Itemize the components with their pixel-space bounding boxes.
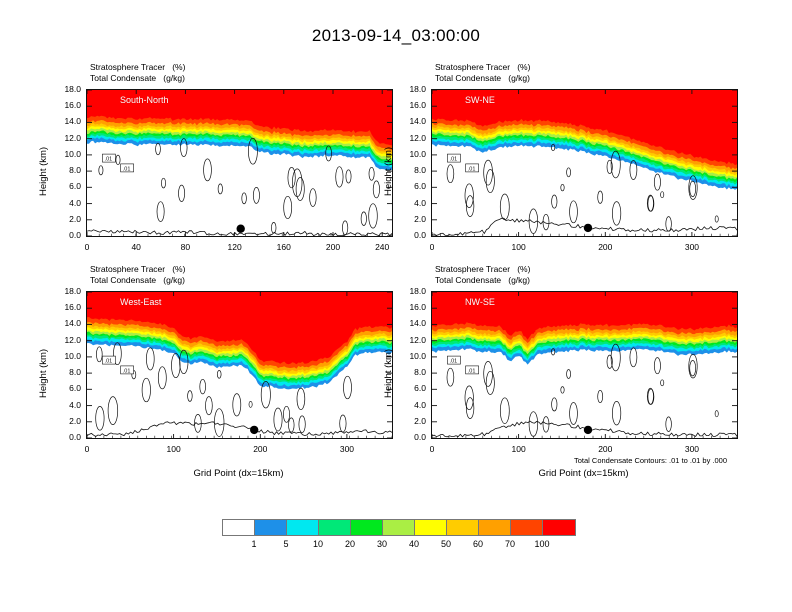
y-tick-label: 2.0 <box>397 416 426 426</box>
y-tick-label: 0.0 <box>397 432 426 442</box>
y-tick-label: 4.0 <box>397 400 426 410</box>
colorbar-tick-label: 100 <box>522 539 562 549</box>
colorbar-cell <box>351 520 383 535</box>
x-tick-label: 100 <box>499 444 539 454</box>
y-tick-label: 6.0 <box>397 383 426 393</box>
x-tick-label: 200 <box>585 444 625 454</box>
panel-variable-header: Stratosphere Tracer (%)Total Condensate … <box>435 264 530 286</box>
colorbar-cell <box>511 520 543 535</box>
y-tick-label: 16.0 <box>397 302 426 312</box>
header-stratosphere-tracer: Stratosphere Tracer (%) <box>435 264 530 275</box>
y-tick-label: 12.0 <box>397 335 426 345</box>
colorbar-cell <box>383 520 415 535</box>
contour-note: Total Condensate Contours: .01 to .01 by… <box>574 456 727 465</box>
y-tick-label: 10.0 <box>397 351 426 361</box>
svg-text:.01: .01 <box>468 369 476 375</box>
colorbar-cell <box>479 520 511 535</box>
colorbar-cell <box>415 520 447 535</box>
y-axis-label-nw-se: Height (km) <box>383 349 394 398</box>
x-tick-label: 0 <box>412 444 452 454</box>
colorbar-cell <box>287 520 319 535</box>
colorbar-cells <box>222 519 576 536</box>
y-tick-label: 14.0 <box>397 318 426 328</box>
figure-canvas: 2013-09-14_03:00:00 Stratosphere Tracer … <box>0 0 792 612</box>
colorbar: 1510203040506070100 <box>222 519 576 536</box>
colorbar-cell <box>319 520 351 535</box>
plot-area-nw-se[interactable]: .01.01 <box>431 291 738 439</box>
colorbar-cell <box>255 520 287 535</box>
svg-text:.01: .01 <box>450 359 458 365</box>
x-axis-label-nw-se: Grid Point (dx=15km) <box>431 468 736 479</box>
y-tick-label: 18.0 <box>397 286 426 296</box>
x-tick-label: 300 <box>672 444 712 454</box>
header-total-condensate: Total Condensate (g/kg) <box>435 275 530 286</box>
colorbar-cell <box>447 520 479 535</box>
colorbar-cell <box>543 520 575 535</box>
colorbar-cell <box>223 520 255 535</box>
y-tick-label: 8.0 <box>397 367 426 377</box>
